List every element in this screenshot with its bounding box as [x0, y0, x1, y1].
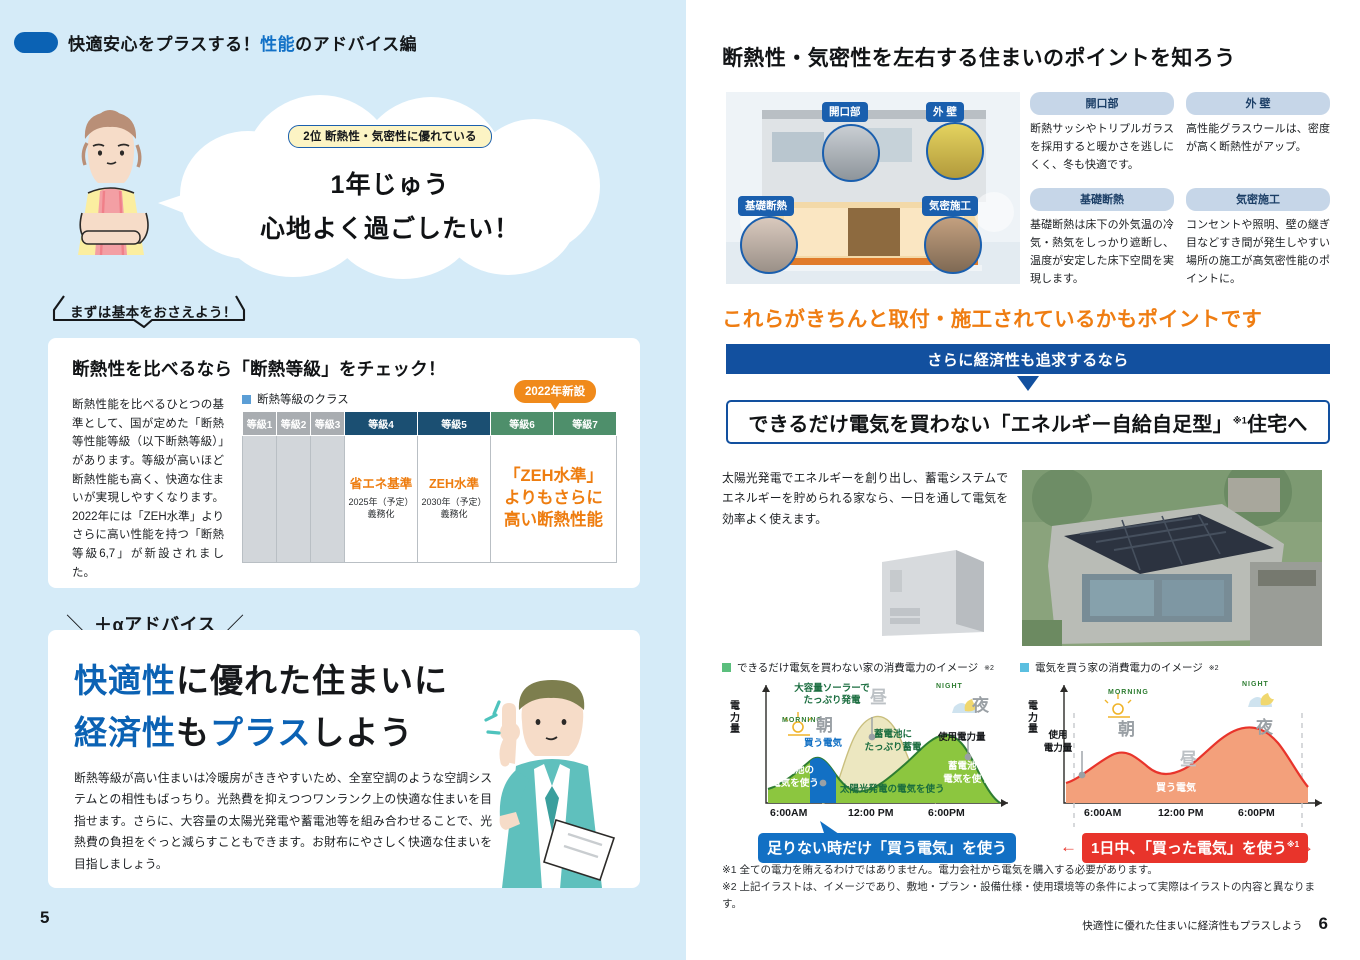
- energy-box-suffix: 住宅へ: [1247, 414, 1308, 436]
- chart2-caption-note: ※1: [1287, 840, 1299, 849]
- card-title: 断熱性を比べるなら「断熱等級」をチェック！: [72, 356, 446, 381]
- rank-badge: 2位 断熱性・気密性に優れている: [288, 125, 491, 148]
- house-label-opening: 開口部: [822, 102, 868, 122]
- house-label-foundation: 基礎断熱: [738, 196, 794, 216]
- basics-tab-label: まずは基本をおさえよう！: [48, 294, 256, 330]
- chart-buy-electricity: 電気を買う家の消費電力のイメージ ※2: [1020, 660, 1330, 865]
- td-grade-1: [243, 436, 277, 563]
- chart2-arrow-left-icon: ←: [1060, 837, 1077, 857]
- td-grade-67-merged: 「ZEH水準」 よりもさらに 高い断熱性能: [491, 436, 617, 563]
- energy-box-main: できるだけ電気を買わない「エネルギー自給自足型」: [748, 414, 1232, 436]
- orange-callout: これらがきちんと取付・施工されているかもポイントです: [722, 302, 1262, 332]
- heading2-accent2: プラス: [210, 714, 311, 751]
- down-arrow-icon: [1017, 376, 1039, 391]
- house-detail-exterior-circle: [926, 122, 984, 180]
- speech-bubble: 2位 断熱性・気密性に優れている 1年じゅう 心地よく過ごしたい！: [180, 95, 600, 280]
- chart1-tick-3: 6:00PM: [928, 807, 965, 819]
- td-grade-4: 省エネ基準 2025年（予定） 義務化: [345, 436, 418, 563]
- speech-bubble-content: 2位 断熱性・気密性に優れている 1年じゅう 心地よく過ごしたい！: [180, 125, 600, 245]
- td5-head: ZEH水準: [420, 477, 488, 493]
- td67-line1: 「ZEH水準」: [493, 466, 614, 488]
- point-head-foundation: 基礎断熱: [1030, 188, 1174, 211]
- spread-gutter: [686, 0, 696, 960]
- td4-sub2: 義務化: [347, 508, 415, 521]
- house-label-exterior: 外 壁: [926, 102, 964, 122]
- right-page-footer: 快適性に優れた住まいに経済性もプラスしよう 6: [1082, 914, 1328, 934]
- brochure-spread: 快適安心をプラスする！性能のアドバイス編: [0, 0, 1360, 960]
- heading2-mid: も: [176, 714, 210, 751]
- page-number-left: 5: [40, 908, 49, 928]
- chart2-caption: 電気を買う家の消費電力のイメージ ※2: [1020, 660, 1330, 675]
- chart2-anno-night-en: NIGHT: [1242, 681, 1269, 688]
- page-header: 快適安心をプラスする！性能のアドバイス編: [14, 30, 417, 55]
- chart2-anno-noon: 昼: [1180, 745, 1197, 770]
- blue-bar-callout: さらに経済性も追求するなら: [726, 344, 1330, 374]
- page-number-right: 6: [1319, 914, 1328, 934]
- chart1-anno-batt-left: 蓄電池の電気を使う: [764, 765, 826, 790]
- chart2-caption-square-icon: [1020, 663, 1029, 672]
- woman-illustration: [52, 105, 172, 275]
- man-illustration: [464, 670, 634, 888]
- header-title-suffix: のアドバイス編: [295, 35, 417, 54]
- chart2-tick-2: 12:00 PM: [1158, 807, 1204, 819]
- speech-line-2: 心地よく過ごしたい！: [180, 209, 600, 245]
- new-2022-badge: 2022年新設: [514, 380, 596, 403]
- lead-paragraph: 太陽光発電でエネルギーを創り出し、蓄電システムでエネルギーを貯められる家なら、一…: [722, 468, 1008, 529]
- td-grade-2: [277, 436, 311, 563]
- speech-line-1: 1年じゅう: [180, 165, 600, 201]
- td4-sub1: 2025年（予定）: [347, 496, 415, 509]
- chart1-anno-night: 夜: [972, 691, 989, 716]
- solar-house-photo: [1022, 470, 1322, 646]
- chart1-anno-night-en: NIGHT: [936, 683, 963, 690]
- caption-square-icon: [242, 395, 251, 404]
- energy-self-sufficient-box: できるだけ電気を買わない「エネルギー自給自足型」※1住宅へ: [726, 400, 1330, 444]
- table-body-row: 省エネ基準 2025年（予定） 義務化 ZEH水準 2030年（予定） 義務化 …: [243, 436, 617, 563]
- td-grade-3: [311, 436, 345, 563]
- table-header-row: 等級1 等級2 等級3 等級4 等級5 等級6 等級7: [243, 412, 617, 436]
- house-detail-opening-circle: [822, 124, 880, 182]
- basics-tab-text: まずは基本をおさえよう！: [70, 301, 237, 321]
- page-title: 快適安心をプラスする！性能のアドバイス編: [68, 30, 417, 55]
- chart1-title-note: ※2: [984, 664, 994, 672]
- point-body-foundation: 基礎断熱は床下の外気温の冷気・熱気をしっかり遮断し、温度が安定した床下空間を実現…: [1030, 217, 1174, 288]
- footnotes: ※1 全ての電力を賄えるわけではありません。電力会社から電気を購入する必要があり…: [722, 862, 1332, 913]
- energy-box-text: できるだけ電気を買わない「エネルギー自給自足型」※1住宅へ: [748, 408, 1307, 437]
- chart1-title: できるだけ電気を買わない家の消費電力のイメージ: [737, 660, 978, 675]
- chart1-anno-solar-use: 太陽光発電の電気を使う: [840, 781, 945, 795]
- header-pill-icon: [14, 32, 58, 53]
- table-caption: 断熱等級のクラス: [242, 391, 349, 407]
- chart1-anno-usage: 使用電力量: [938, 729, 986, 743]
- chart2-tick-3: 6:00PM: [1238, 807, 1275, 819]
- td67-line3: 高い断熱性能: [493, 510, 614, 532]
- heading1-accent: 快適性: [74, 662, 176, 699]
- chart2-tick-1: 6:00AM: [1084, 807, 1121, 819]
- point-card-foundation: 基礎断熱 基礎断熱は床下の外気温の冷気・熱気をしっかり遮断し、温度が安定した床下…: [1030, 188, 1174, 288]
- chart1-anno-batt-right: 蓄電池の電気を使う: [936, 761, 998, 786]
- left-page: 快適安心をプラスする！性能のアドバイス編: [0, 0, 686, 960]
- battery-unit-photo: [872, 540, 990, 644]
- chart1-anno-noon: 昼: [870, 683, 887, 708]
- heading2-tail: しよう: [311, 714, 413, 751]
- point-card-airtight: 気密施工 コンセントや照明、壁の継ぎ目などすき間が発生しやすい場所の施工が高気密…: [1186, 188, 1330, 288]
- point-body-airtight: コンセントや照明、壁の継ぎ目などすき間が発生しやすい場所の施工が高気密性能のポイ…: [1186, 217, 1330, 288]
- th-grade-3: 等級3: [311, 412, 345, 436]
- point-head-airtight: 気密施工: [1186, 188, 1330, 211]
- chart2-anno-morning-en: MORNING: [1108, 689, 1149, 696]
- heading2-accent1: 経済性: [74, 714, 176, 751]
- td4-head: 省エネ基準: [347, 477, 415, 493]
- heading1-rest: に優れた住まいに: [176, 662, 448, 699]
- td67-line2: よりもさらに: [493, 488, 614, 510]
- chart1-anno-buy: 買う電気: [804, 735, 842, 749]
- chart1-tick-1: 6:00AM: [770, 807, 807, 819]
- td5-sub2: 義務化: [420, 508, 488, 521]
- point-card-opening: 開口部 断熱サッシやトリプルガラスを採用すると暖かさを逃しにくく、冬も快適です。: [1030, 92, 1174, 174]
- chart1-anno-store: 蓄電池にたっぷり蓄電: [856, 729, 930, 754]
- advice-card: 快適性に優れた住まいに 経済性もプラスしよう 断熱等級が高い住まいは冷暖房がきき…: [48, 630, 640, 888]
- chart2-caption-box: 1日中、「買った電気」を使う※1: [1082, 833, 1308, 863]
- chart2-anno-night: 夜: [1256, 713, 1273, 738]
- insulation-grade-table: 等級1 等級2 等級3 等級4 等級5 等級6 等級7 省エネ基準 2025年（…: [242, 411, 617, 563]
- advice-heading-line1: 快適性に優れた住まいに: [74, 654, 448, 702]
- point-body-opening: 断熱サッシやトリプルガラスを採用すると暖かさを逃しにくく、冬も快適です。: [1030, 121, 1174, 174]
- footer-text: 快適性に優れた住まいに経済性もプラスしよう: [1082, 918, 1302, 933]
- house-label-airtight: 気密施工: [922, 196, 978, 216]
- chart1-caption-square-icon: [722, 663, 731, 672]
- footnote-2: ※2 上記イラストは、イメージであり、敷地・プラン・設備仕様・使用環境等の条件に…: [722, 879, 1332, 913]
- th-grade-4: 等級4: [345, 412, 418, 436]
- points-grid: 開口部 断熱サッシやトリプルガラスを採用すると暖かさを逃しにくく、冬も快適です。…: [1030, 92, 1330, 289]
- chart1-tick-2: 12:00 PM: [848, 807, 894, 819]
- point-body-exterior: 高性能グラスウールは、密度が高く断熱性がアップ。: [1186, 121, 1330, 157]
- house-detail-airtight-circle: [924, 216, 982, 274]
- energy-box-note: ※1: [1233, 415, 1247, 425]
- chart1-caption: できるだけ電気を買わない家の消費電力のイメージ ※2: [722, 660, 1014, 675]
- point-head-opening: 開口部: [1030, 92, 1174, 115]
- chart2-anno-morning: 朝: [1118, 715, 1135, 740]
- chart2-title: 電気を買う家の消費電力のイメージ: [1035, 660, 1203, 675]
- card-body-text: 断熱性能を比べるひとつの基準として、国が定めた「断熱等性能等級（以下断熱等級）」…: [72, 396, 224, 582]
- chart1-anno-morning: 朝: [816, 711, 833, 736]
- th-grade-2: 等級2: [277, 412, 311, 436]
- td5-sub1: 2030年（予定）: [420, 496, 488, 509]
- chart1-ylabel: 電力量: [722, 701, 748, 736]
- right-page: 断熱性・気密性を左右する住まいのポイントを知ろう 開口部 外 壁: [696, 0, 1360, 960]
- footnote-1: ※1 全ての電力を賄えるわけではありません。電力会社から電気を購入する必要があり…: [722, 862, 1332, 879]
- chart2-title-note: ※2: [1209, 664, 1219, 672]
- header-title-accent: 性能: [260, 35, 295, 54]
- th-grade-7: 等級7: [554, 412, 617, 436]
- th-grade-5: 等級5: [418, 412, 491, 436]
- chart2-anno-buy: 買う電気: [1156, 779, 1196, 794]
- chart-self-sufficient: できるだけ電気を買わない家の消費電力のイメージ ※2: [722, 660, 1014, 865]
- advice-heading-line2: 経済性もプラスしよう: [74, 706, 413, 754]
- th-grade-1: 等級1: [243, 412, 277, 436]
- point-card-exterior: 外 壁 高性能グラスウールは、密度が高く断熱性がアップ。: [1186, 92, 1330, 174]
- th-grade-6: 等級6: [491, 412, 554, 436]
- point-head-exterior: 外 壁: [1186, 92, 1330, 115]
- house-detail-foundation-circle: [740, 216, 798, 274]
- header-title-prefix: 快適安心をプラスする！: [68, 35, 260, 54]
- advice-body-text: 断熱等級が高い住まいは冷暖房がききやすいため、全室空調のような空調システムとの相…: [74, 768, 492, 875]
- chart2-anno-usage: 使用電力量: [1034, 729, 1082, 755]
- table-caption-text: 断熱等級のクラス: [257, 391, 349, 407]
- chart1-caption-box: 足りない時だけ「買う電気」を使う: [758, 833, 1016, 863]
- td-grade-5: ZEH水準 2030年（予定） 義務化: [418, 436, 491, 563]
- chart2-caption-text: 1日中、「買った電気」を使う: [1091, 840, 1287, 857]
- house-photo: 開口部 外 壁 基礎断熱 気密施工: [726, 92, 1020, 284]
- chart1-anno-solar: 大容量ソーラーでたっぷり発電: [784, 683, 880, 708]
- insulation-grade-card: 断熱性を比べるなら「断熱等級」をチェック！ 断熱性能を比べるひとつの基準として、…: [48, 338, 640, 588]
- right-page-title: 断熱性・気密性を左右する住まいのポイントを知ろう: [722, 42, 1236, 72]
